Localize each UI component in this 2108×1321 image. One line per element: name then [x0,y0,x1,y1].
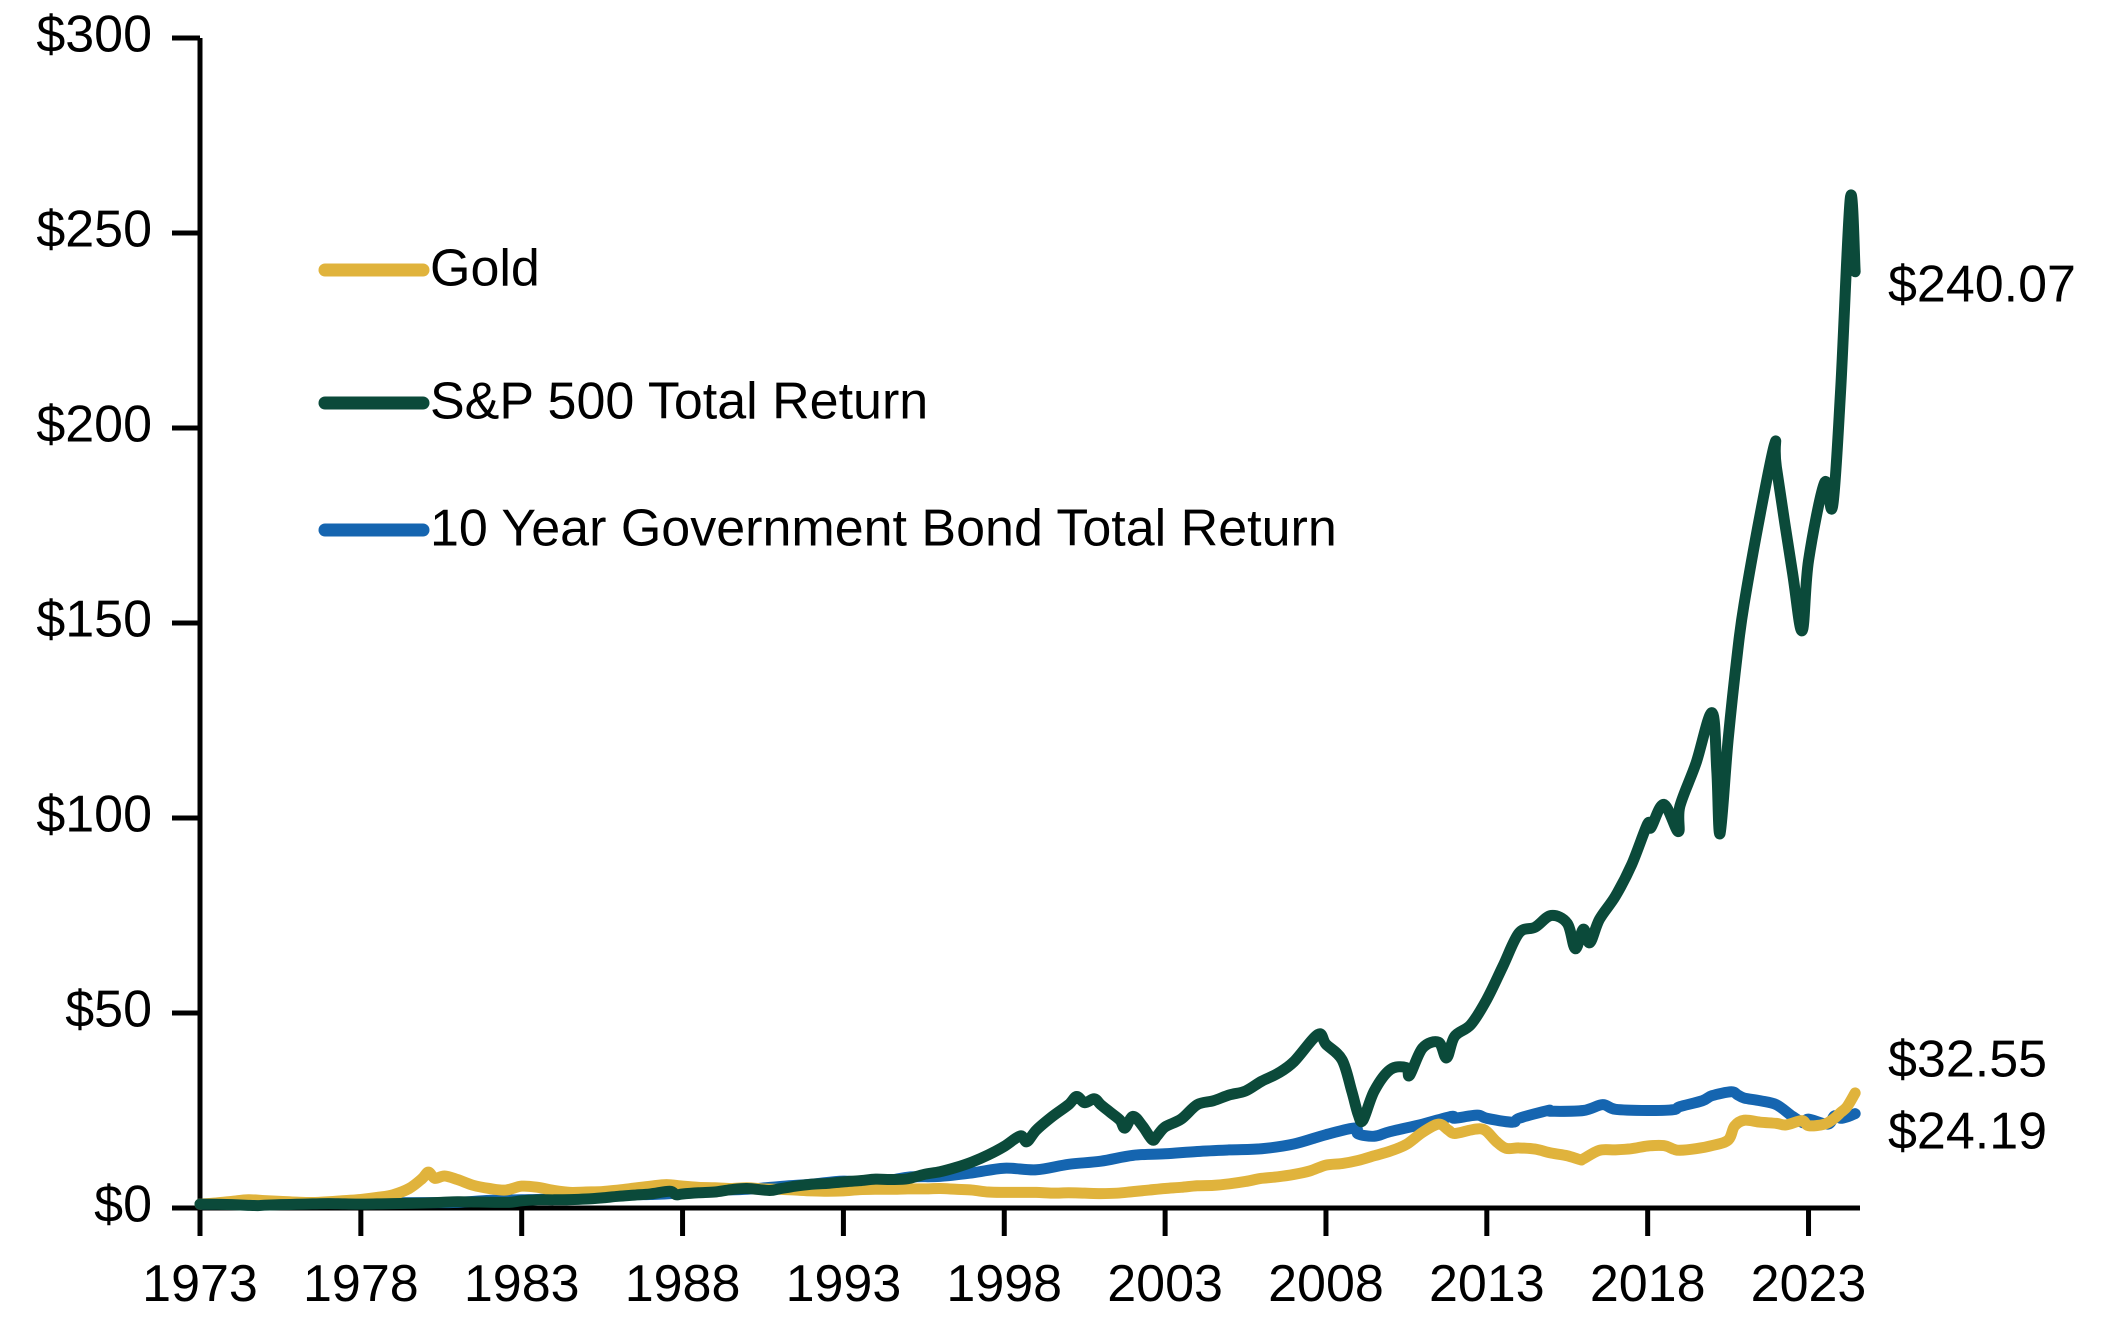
y-tick-label: $100 [36,786,152,844]
x-tick-label: 2003 [1107,1255,1223,1313]
x-tick-label: 1983 [464,1255,580,1313]
chart-container: $0$50$100$150$200$250$300 19731978198319… [0,0,2108,1321]
line-chart: $0$50$100$150$200$250$300 19731978198319… [0,0,2108,1321]
x-tick-label: 1978 [303,1255,419,1313]
y-tick-label: $200 [36,396,152,454]
legend-label-0: Gold [430,240,540,298]
x-tick-label: 1973 [142,1255,258,1313]
end-label-sp500: $240.07 [1888,256,2076,314]
x-tick-label: 2013 [1429,1255,1545,1313]
y-tick-label: $150 [36,591,152,649]
x-tick-label: 1998 [946,1255,1062,1313]
x-tick-label: 2023 [1751,1255,1867,1313]
end-label-gold: $32.55 [1888,1031,2047,1089]
end-label-bond: $24.19 [1888,1103,2047,1161]
y-tick-label: $50 [65,981,152,1039]
x-tick-label: 1988 [625,1255,741,1313]
x-tick-label: 2008 [1268,1255,1384,1313]
y-tick-label: $0 [94,1176,152,1234]
legend-label-2: 10 Year Government Bond Total Return [430,500,1337,558]
x-tick-label: 2018 [1590,1255,1706,1313]
x-tick-label: 1993 [786,1255,902,1313]
y-tick-label: $250 [36,201,152,259]
legend-label-1: S&P 500 Total Return [430,373,928,431]
y-tick-label: $300 [36,6,152,64]
